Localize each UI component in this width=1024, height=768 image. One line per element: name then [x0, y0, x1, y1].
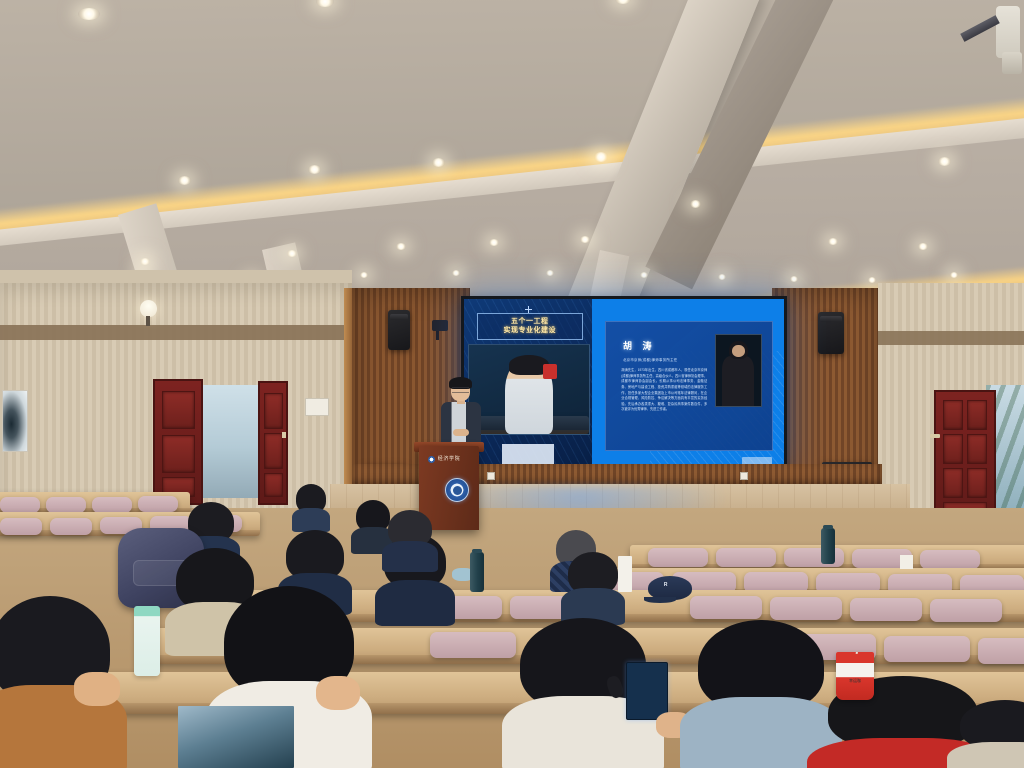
- speaker-name: 胡 涛: [623, 339, 656, 352]
- seat[interactable]: [690, 596, 762, 619]
- downlight: [452, 270, 460, 276]
- drink-cup: 幸运咖: [836, 652, 874, 700]
- door-left-leaf-a[interactable]: [153, 379, 203, 505]
- downlight: [287, 250, 297, 257]
- baseball-cap: R: [648, 576, 692, 600]
- seat[interactable]: [930, 599, 1002, 622]
- thermos-flask: [470, 552, 484, 592]
- slide-left-photo: [468, 344, 590, 435]
- seat[interactable]: [430, 632, 516, 658]
- downlight: [938, 157, 951, 166]
- audience-person: [960, 700, 1024, 768]
- camera-stand: [436, 331, 439, 340]
- wall-mounted-loudspeaker-right: [818, 312, 844, 354]
- downlight: [78, 8, 100, 20]
- lecture-hall-photo: 五个一工程 实现专业化建设 胡 涛 北京市京师(成都)律师事务所主任 胡涛先生，…: [0, 0, 1024, 768]
- projection-screen: 五个一工程 实现专业化建设 胡 涛 北京市京师(成都)律师事务所主任 胡涛先生，…: [461, 296, 787, 474]
- downlight: [868, 277, 876, 283]
- speaker-portrait-photo: [715, 334, 762, 407]
- seat[interactable]: [850, 598, 922, 621]
- doorway-opening-left: [196, 385, 258, 498]
- seat[interactable]: [92, 497, 132, 513]
- downlight: [594, 152, 608, 162]
- person-shoulders: [382, 541, 438, 572]
- seat[interactable]: [978, 638, 1024, 664]
- framed-ink-painting: [2, 390, 28, 452]
- downlight: [690, 200, 701, 208]
- slide-title-box: 五个一工程 实现专业化建设: [477, 313, 583, 340]
- person-hand: [316, 676, 360, 710]
- speaker-bio-card: 胡 涛 北京市京师(成都)律师事务所主任 胡涛先生，1973年出生，四川省成都市…: [605, 321, 772, 450]
- seat[interactable]: [648, 548, 708, 567]
- downlight: [640, 272, 648, 278]
- downlight: [546, 270, 554, 276]
- speaker-bio-text: 胡涛先生，1973年出生，四川省成都市人，现任北京市京师(成都)律师事务所主任、…: [621, 368, 707, 413]
- ceiling: [0, 0, 1024, 300]
- stage-camera: [432, 320, 448, 331]
- thermos-flask: [821, 528, 835, 564]
- door-left-leaf-b[interactable]: [258, 381, 288, 505]
- downlight: [360, 272, 368, 278]
- downlight: [432, 158, 445, 167]
- downlight: [950, 272, 958, 278]
- cap-logo: R: [664, 582, 668, 588]
- slide-right-panel: 胡 涛 北京市京师(成都)律师事务所主任 胡涛先生，1973年出生，四川省成都市…: [592, 299, 784, 471]
- portrait-face: [732, 345, 744, 357]
- door-right[interactable]: [934, 390, 996, 526]
- door-handle-right[interactable]: [930, 434, 940, 438]
- audience-person: [296, 484, 326, 530]
- wall-sconce-lamp: [140, 300, 157, 317]
- wall-control-panel[interactable]: [305, 398, 329, 416]
- seat[interactable]: [46, 497, 86, 513]
- wall-mounted-loudspeaker-left: [388, 310, 410, 350]
- wall-right-accent-band: [878, 331, 1024, 345]
- smartphone[interactable]: [626, 662, 668, 720]
- photo-red-object: [543, 364, 556, 378]
- downlight: [828, 238, 838, 245]
- tshirt-graphic: [178, 706, 294, 768]
- university-seal-icon: [445, 478, 469, 502]
- downlight: [178, 176, 191, 185]
- downlight: [790, 276, 798, 282]
- wall-outlet: [740, 472, 748, 480]
- paper-sheet: [618, 556, 632, 592]
- cup-brand-label: 幸运咖: [839, 678, 871, 684]
- wall-outlet: [487, 472, 495, 480]
- eyeglasses-icon: [452, 387, 469, 393]
- presenter-hands: [453, 429, 469, 436]
- downlight: [140, 258, 150, 265]
- person-shoulders: [292, 508, 330, 532]
- slide-title-line2: 实现专业化建设: [480, 326, 580, 335]
- portrait-body: [722, 356, 754, 406]
- paper-card: [900, 555, 913, 569]
- seat[interactable]: [138, 496, 178, 512]
- sconce-bracket: [146, 316, 150, 326]
- seat[interactable]: [770, 597, 842, 620]
- person-hand: [74, 672, 120, 706]
- downlight: [489, 239, 499, 246]
- ceiling-projector-mount: [960, 0, 1024, 92]
- audience-person: [388, 510, 432, 570]
- wall-left-accent-band: [0, 325, 352, 340]
- seat[interactable]: [716, 548, 776, 567]
- audience-person: [698, 620, 824, 768]
- downlight: [396, 243, 406, 250]
- downlight: [918, 243, 928, 250]
- speaker-subtitle: 北京市京师(成都)律师事务所主任: [623, 357, 709, 362]
- person-shoulders: [375, 580, 454, 626]
- water-bottle: [134, 606, 160, 676]
- seat[interactable]: [0, 497, 40, 513]
- downlight: [308, 165, 321, 174]
- presenter: [438, 379, 484, 449]
- seat[interactable]: [884, 636, 970, 662]
- downlight: [580, 236, 590, 243]
- audience-person: [568, 552, 618, 622]
- slide-title-line1: 五个一工程: [480, 317, 580, 326]
- podium-label: 经济学院: [424, 455, 474, 462]
- seat[interactable]: [920, 550, 980, 569]
- seat[interactable]: [50, 518, 92, 535]
- slide-caption-plate: [502, 444, 553, 465]
- door-handle-left[interactable]: [282, 432, 286, 438]
- seat[interactable]: [0, 518, 42, 535]
- downlight: [718, 274, 726, 280]
- seat[interactable]: [784, 548, 844, 567]
